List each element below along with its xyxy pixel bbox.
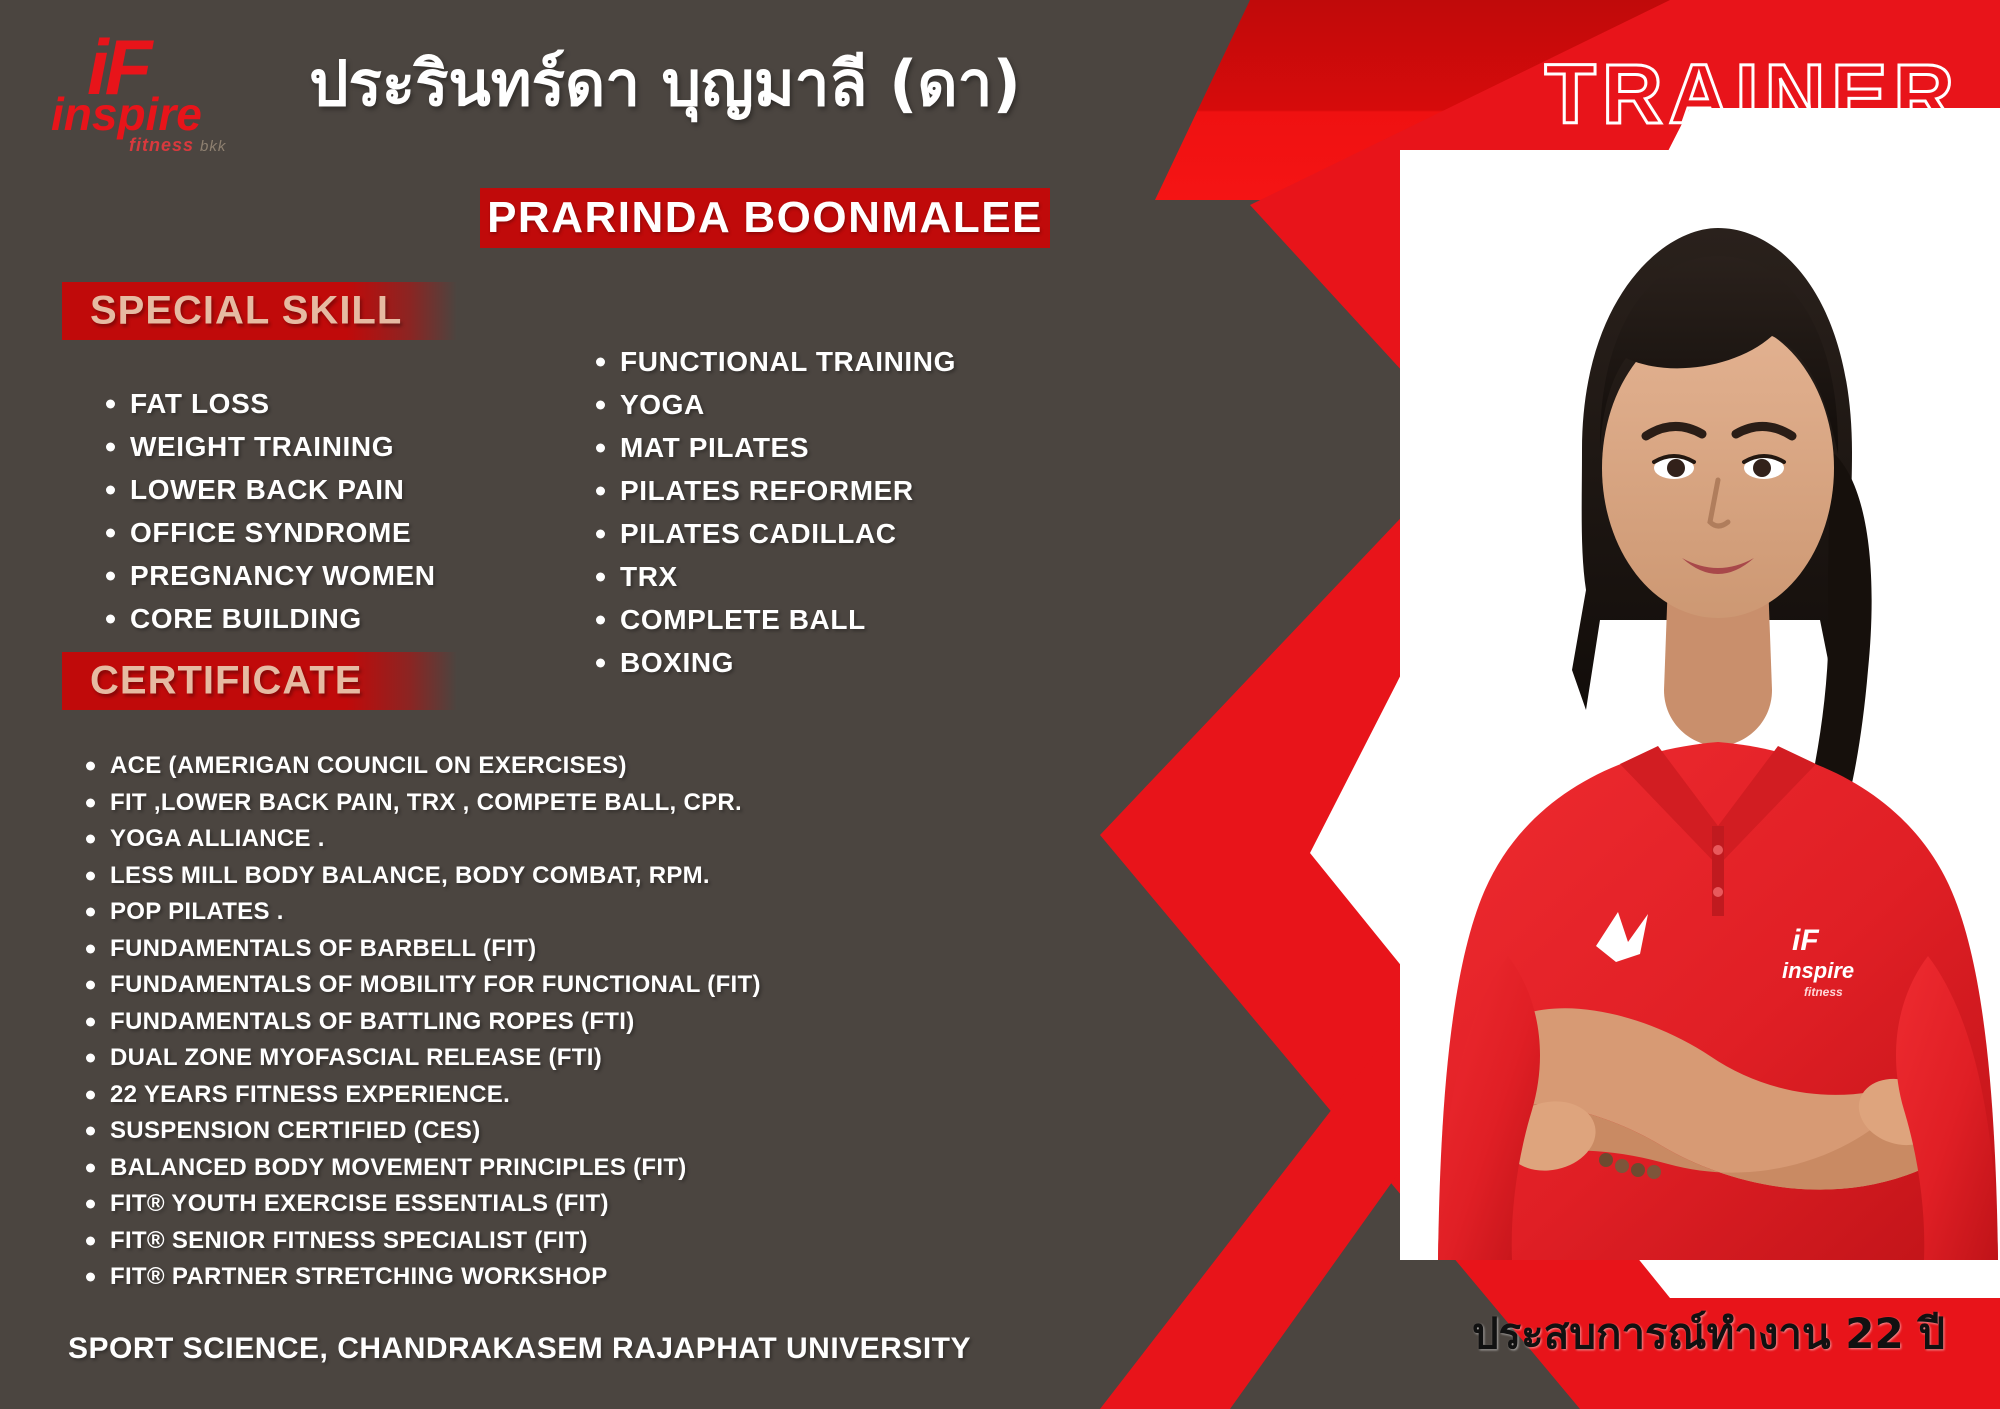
list-item: FUNDAMENTALS OF BATTLING ROPES (FTI) <box>80 1004 761 1041</box>
shirt-button-top <box>1713 845 1723 855</box>
list-item: PILATES CADILLAC <box>590 512 956 555</box>
logo-city: bkk <box>200 138 226 155</box>
list-item: FIT® PARTNER STRETCHING WORKSHOP <box>80 1259 761 1296</box>
special-skill-heading: SPECIAL SKILL <box>90 289 402 334</box>
list-item: MAT PILATES <box>590 426 956 469</box>
list-item: YOGA ALLIANCE . <box>80 821 761 858</box>
trainer-profile-poster: iF inspire fitness <box>0 0 2000 1409</box>
logo-tagline-row: fitness bkk <box>129 135 235 156</box>
list-item: FAT LOSS <box>100 382 436 425</box>
list-item: FIT® SENIOR FITNESS SPECIALIST (FIT) <box>80 1223 761 1260</box>
special-skill-list-right: FUNCTIONAL TRAINING YOGA MAT PILATES PIL… <box>590 340 956 684</box>
list-item: PREGNANCY WOMEN <box>100 554 436 597</box>
list-item: FUNCTIONAL TRAINING <box>590 340 956 383</box>
list-item: BOXING <box>590 641 956 684</box>
trainer-name-thai: ประรินทร์ดา บุญมาลี (ดา) <box>270 50 1060 118</box>
list-item: 22 YEARS FITNESS EXPERIENCE. <box>80 1077 761 1114</box>
list-item: SUSPENSION CERTIFIED (CES) <box>80 1113 761 1150</box>
trainer-photo: iF inspire fitness <box>1400 150 2000 1260</box>
list-item: TRX <box>590 555 956 598</box>
inspire-fitness-logo: iF inspire fitness bkk <box>45 32 235 177</box>
list-item: LOWER BACK PAIN <box>100 468 436 511</box>
list-item: FUNDAMENTALS OF MOBILITY FOR FUNCTIONAL … <box>80 967 761 1004</box>
list-item: DUAL ZONE MYOFASCIAL RELEASE (FTI) <box>80 1040 761 1077</box>
list-item: OFFICE SYNDROME <box>100 511 436 554</box>
certificate-header-bar: CERTIFICATE <box>62 652 457 710</box>
certificate-heading: CERTIFICATE <box>90 659 362 704</box>
list-item: PILATES REFORMER <box>590 469 956 512</box>
list-item: FIT® YOUTH EXERCISE ESSENTIALS (FIT) <box>80 1186 761 1223</box>
trainer-photo-frame: iF inspire fitness <box>1400 150 2000 1260</box>
experience-caption: ประสบการณ์ทำงาน 22 ปี <box>1472 1301 1945 1367</box>
university-footer: SPORT SCIENCE, CHANDRAKASEM RAJAPHAT UNI… <box>68 1332 971 1366</box>
special-skill-header-bar: SPECIAL SKILL <box>62 282 457 340</box>
shirt-logo-fitness: fitness <box>1804 985 1843 999</box>
right-decorative-panel: iF inspire fitness <box>1100 0 2000 1409</box>
trainer-name-english: PRARINDA BOONMALEE <box>480 192 1050 244</box>
list-item: ACE (AMERIGAN COUNCIL ON EXERCISES) <box>80 748 761 785</box>
logo-wordmark: inspire <box>51 96 235 133</box>
shirt-logo-if: iF <box>1792 924 1819 957</box>
list-item: YOGA <box>590 383 956 426</box>
list-item: COMPLETE BALL <box>590 598 956 641</box>
list-item: POP PILATES . <box>80 894 761 931</box>
pupil-right <box>1753 459 1771 477</box>
shirt-logo-inspire: inspire <box>1782 958 1854 983</box>
trainer-banner-label: TRAINER <box>1545 52 1960 136</box>
list-item: FUNDAMENTALS OF BARBELL (FIT) <box>80 931 761 968</box>
list-item: LESS MILL BODY BALANCE, BODY COMBAT, RPM… <box>80 858 761 895</box>
pupil-left <box>1667 459 1685 477</box>
list-item: CORE BUILDING <box>100 597 436 640</box>
list-item: BALANCED BODY MOVEMENT PRINCIPLES (FIT) <box>80 1150 761 1187</box>
shirt-placket <box>1712 826 1724 916</box>
list-item: WEIGHT TRAINING <box>100 425 436 468</box>
shirt-button-bottom <box>1713 887 1723 897</box>
logo-tagline: fitness <box>129 135 194 155</box>
special-skill-list-left: FAT LOSS WEIGHT TRAINING LOWER BACK PAIN… <box>100 382 436 640</box>
certificate-list: ACE (AMERIGAN COUNCIL ON EXERCISES) FIT … <box>80 748 761 1296</box>
list-item: FIT ,LOWER BACK PAIN, TRX , COMPETE BALL… <box>80 785 761 822</box>
trainer-portrait-illustration: iF inspire fitness <box>1400 150 2000 1260</box>
